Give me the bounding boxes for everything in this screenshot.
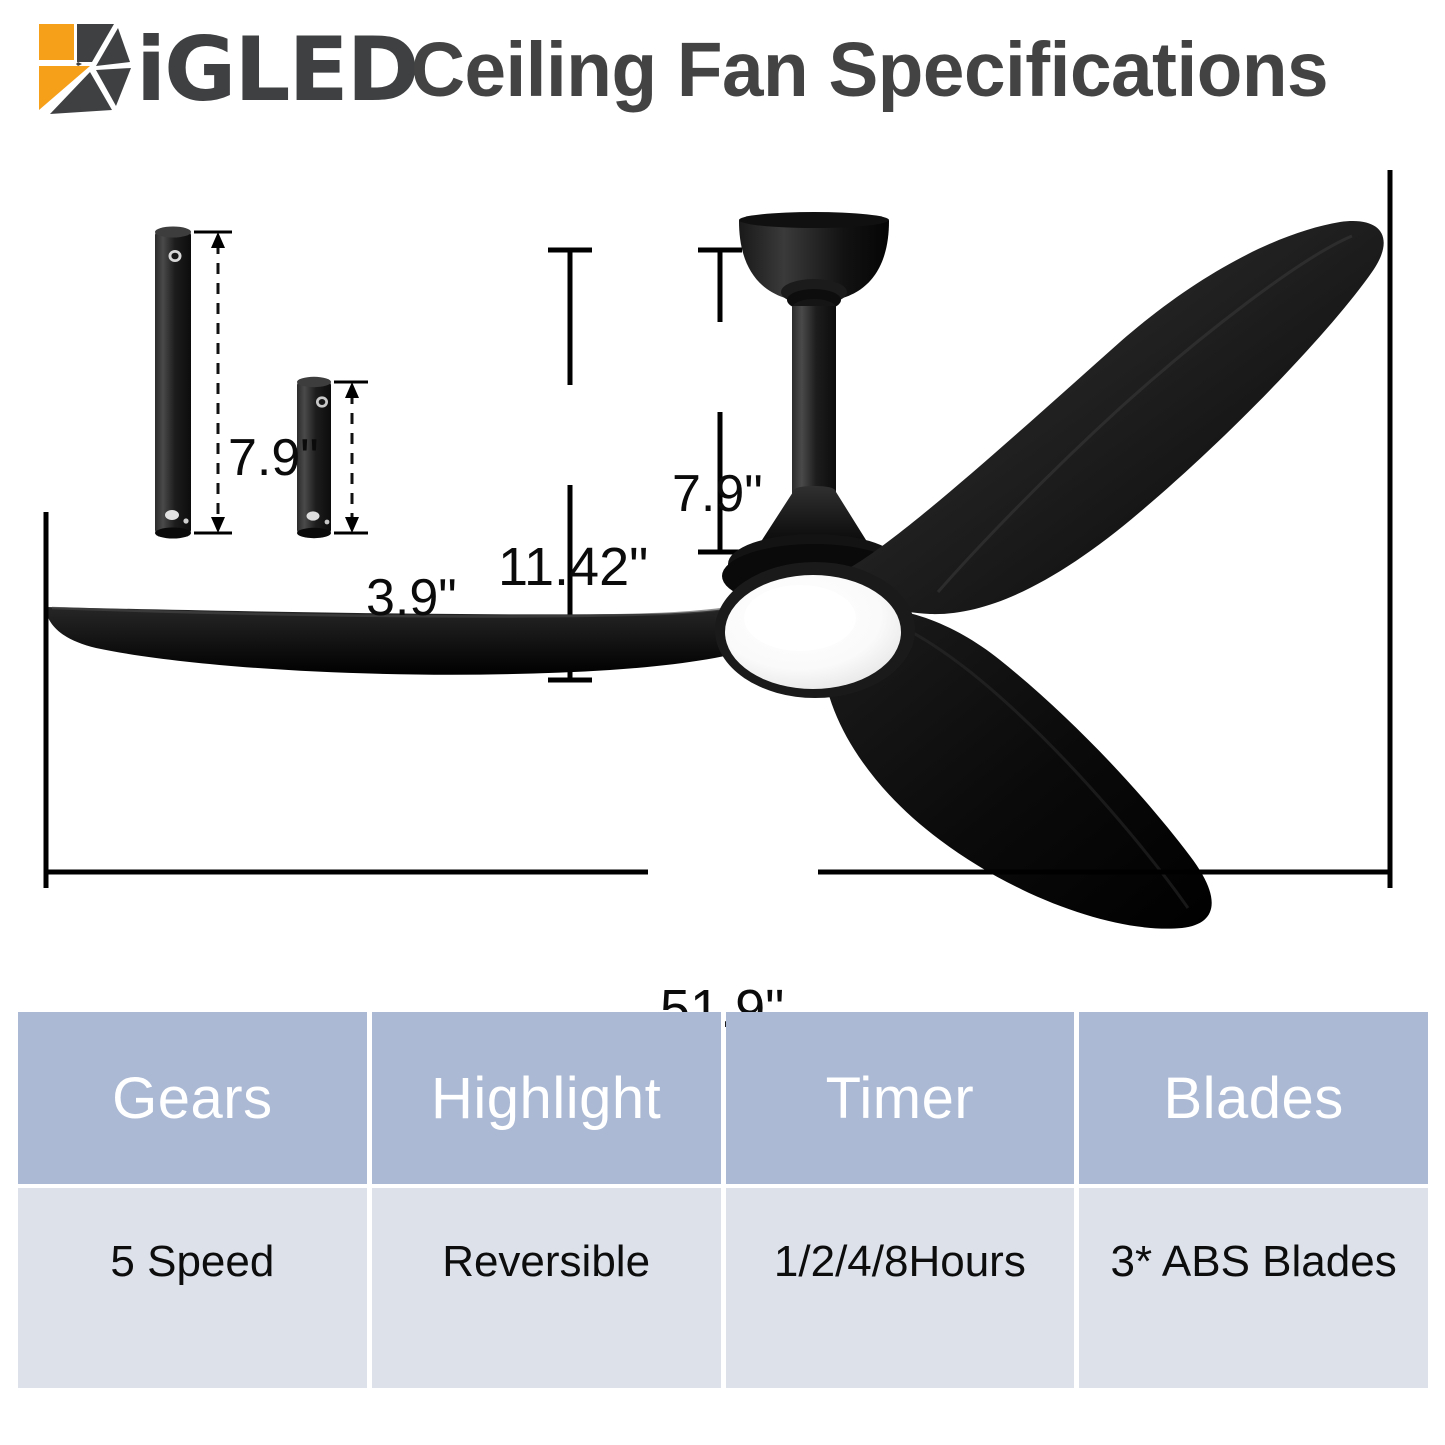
dimension-short-downrod: [334, 382, 368, 533]
spec-header-highlight: Highlight: [372, 1012, 721, 1184]
dimension-label-overall-height: 11.42": [498, 540, 648, 594]
specification-table: Gears Highlight Timer Blades 5 Speed Rev…: [18, 1012, 1428, 1388]
fan-dimension-diagram: 7.9" 3.9" 11.42" 7.9" 51.9": [0, 140, 1445, 990]
led-light-kit: [715, 562, 915, 698]
long-downrod-part: [155, 227, 191, 539]
spec-value-timer: 1/2/4/8Hours: [726, 1188, 1075, 1388]
dimension-label-long-downrod: 7.9": [228, 432, 319, 484]
fan-illustration: [0, 140, 1445, 990]
dimension-label-short-downrod: 3.9": [366, 572, 457, 624]
page-header: iGLED Ceiling Fan Specifications: [0, 0, 1445, 140]
dimension-long-downrod: [194, 232, 232, 533]
spec-header-blades: Blades: [1079, 1012, 1428, 1184]
spec-value-highlight: Reversible: [372, 1188, 721, 1388]
spec-table-row: 5 Speed Reversible 1/2/4/8Hours 3* ABS B…: [18, 1188, 1428, 1388]
dimension-label-canopy-drop: 7.9": [672, 468, 763, 520]
spec-header-gears: Gears: [18, 1012, 367, 1184]
installed-downrod: [792, 306, 836, 496]
spec-value-blades: 3* ABS Blades: [1079, 1188, 1428, 1388]
brand-wordmark: iGLED: [136, 26, 418, 114]
spec-table-header-row: Gears Highlight Timer Blades: [18, 1012, 1428, 1184]
spec-value-gears: 5 Speed: [18, 1188, 367, 1388]
page-title: Ceiling Fan Specifications: [411, 32, 1328, 109]
fan-canopy: [739, 212, 889, 317]
product-spec-page: iGLED Ceiling Fan Specifications: [0, 0, 1445, 1445]
aperture-shutter-icon: [30, 22, 142, 118]
brand-logo: iGLED: [30, 20, 385, 120]
spec-header-timer: Timer: [726, 1012, 1075, 1184]
fan-blade-upper-right: [846, 221, 1384, 614]
